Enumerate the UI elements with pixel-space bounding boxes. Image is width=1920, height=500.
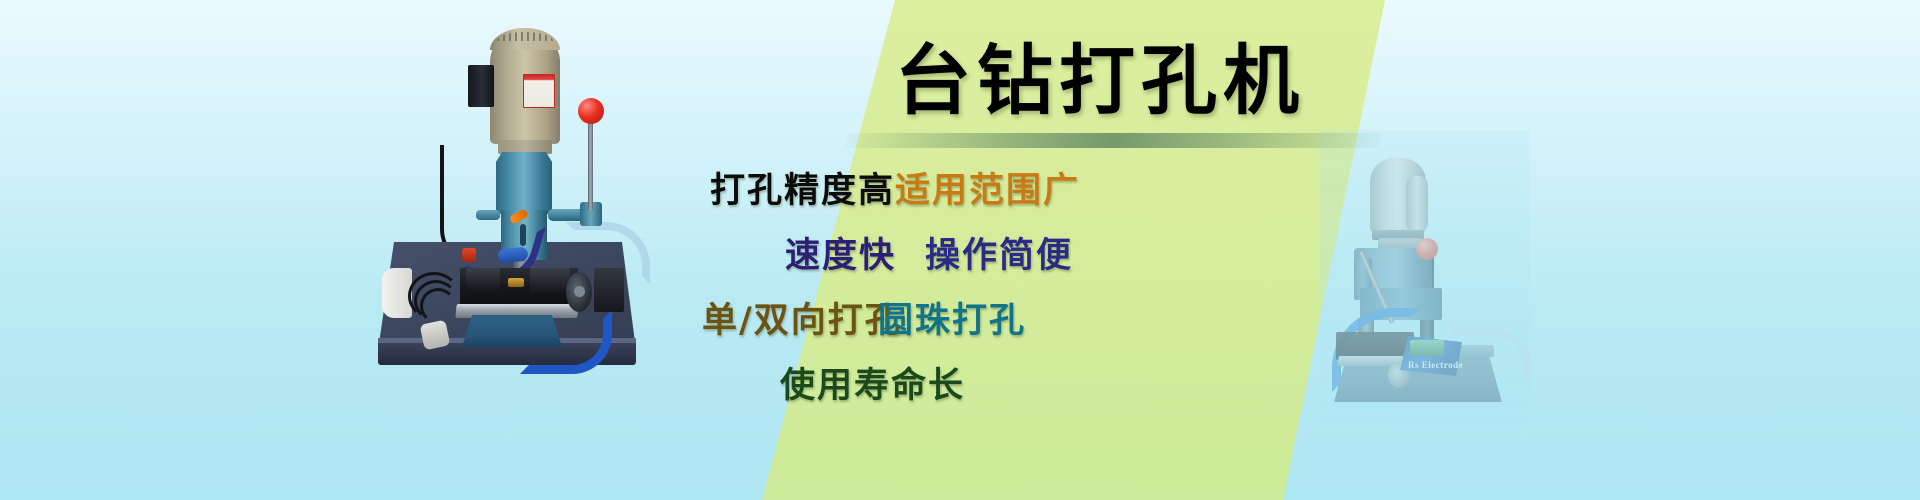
feature-list: 打孔精度高 适用范围广 速度快 操作简便 单/双向打孔 圆珠打孔 使用寿命长 (660, 158, 1420, 418)
feed-lever (588, 110, 593, 210)
vise-jaw-right (530, 268, 570, 292)
feature-row-4: 使用寿命长 (660, 353, 1420, 418)
handwheel-hub (574, 286, 585, 297)
coiled-cord-inner (420, 288, 456, 324)
product-banner: Rs Electrode 台钻打孔机 打孔精度高 适用范围广 速度快 操作简便 … (0, 0, 1920, 500)
machine-table (462, 315, 562, 347)
feature-item-easy-operation: 操作简便 (925, 223, 1073, 288)
junction-box (468, 65, 494, 107)
right-bracket (594, 268, 624, 312)
feature-item-range: 适用范围广 (895, 158, 1080, 223)
vise-brass-insert (508, 278, 524, 287)
feature-item-bead-drill: 圆珠打孔 (878, 288, 1026, 353)
title-underline (843, 133, 1381, 148)
feature-item-speed: 速度快 (785, 223, 896, 288)
feature-row-1: 打孔精度高 适用范围广 (660, 158, 1420, 223)
feature-row-2: 速度快 操作简便 (660, 223, 1420, 288)
feature-item-long-life: 使用寿命长 (780, 353, 965, 418)
lever-knob (578, 98, 604, 124)
product-image-left (370, 10, 670, 370)
page-title: 台钻打孔机 (700, 38, 1500, 124)
power-plug (420, 320, 451, 351)
motor-neck (498, 140, 552, 154)
motor-spec-label (523, 74, 555, 108)
drill-head-upper (496, 152, 552, 214)
feature-item-precision: 打孔精度高 (710, 158, 895, 223)
red-valve (462, 248, 476, 262)
vise-jaw-left (466, 268, 500, 290)
feature-row-3: 单/双向打孔 圆珠打孔 (660, 288, 1420, 353)
feature-item-single-double-drill: 单/双向打孔 (702, 288, 902, 353)
